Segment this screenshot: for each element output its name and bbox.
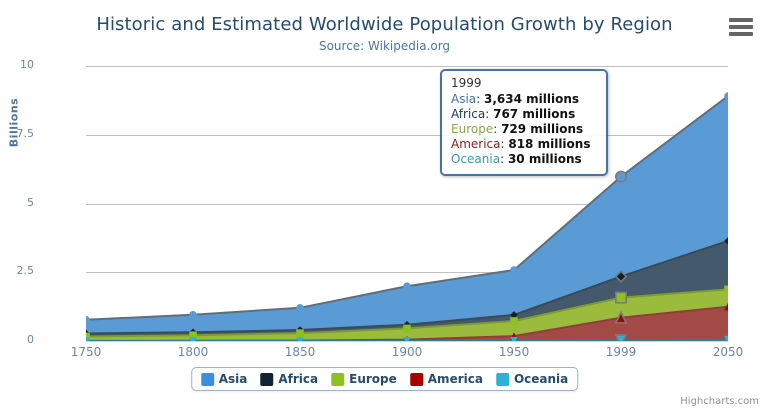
y-axis-tick-label: 5	[0, 196, 34, 209]
legend-item-america[interactable]: America	[410, 372, 483, 386]
x-axis-tick-label: 1750	[71, 345, 102, 359]
tooltip-series-value: 729 millions	[501, 122, 583, 136]
legend-swatch-icon	[496, 373, 509, 386]
x-axis-tick-label: 1950	[499, 345, 530, 359]
y-axis-tick-label: 7.5	[0, 127, 34, 140]
tooltip-series-name: Asia	[451, 92, 476, 106]
plot-area	[86, 66, 728, 341]
data-point-marker[interactable]	[296, 329, 304, 337]
tooltip-row: Africa: 767 millions	[451, 107, 597, 122]
chart-subtitle: Source: Wikipedia.org	[0, 39, 769, 53]
x-axis-line	[86, 341, 728, 342]
legend-label: Asia	[219, 372, 248, 386]
tooltip-series-value: 767 millions	[493, 107, 575, 121]
tooltip-series-name: America	[451, 137, 501, 151]
chart-legend[interactable]: AsiaAfricaEuropeAmericaOceania	[191, 367, 579, 391]
legend-item-africa[interactable]: Africa	[260, 372, 318, 386]
data-point-marker[interactable]	[403, 325, 411, 333]
data-point-marker[interactable]	[403, 282, 411, 290]
x-axis-tick-label: 2050	[713, 345, 744, 359]
tooltip: 1999 Asia: 3,634 millionsAfrica: 767 mil…	[440, 69, 608, 176]
tooltip-row: Asia: 3,634 millions	[451, 92, 597, 107]
tooltip-rows: Asia: 3,634 millionsAfrica: 767 millions…	[451, 92, 597, 167]
x-axis-tick-label: 1900	[392, 345, 423, 359]
chart-title: Historic and Estimated Worldwide Populat…	[0, 14, 769, 35]
x-axis-tick-label: 1999	[606, 345, 637, 359]
x-axis-tick-label: 1850	[285, 345, 316, 359]
hamburger-bar-1	[729, 18, 753, 22]
hamburger-menu-icon[interactable]	[729, 18, 753, 36]
legend-item-oceania[interactable]: Oceania	[496, 372, 568, 386]
y-axis-title: Billions	[8, 53, 21, 193]
credits-link[interactable]: Highcharts.com	[680, 396, 759, 407]
tooltip-row: Oceania: 30 millions	[451, 152, 597, 167]
data-point-marker[interactable]	[724, 286, 728, 294]
legend-item-asia[interactable]: Asia	[201, 372, 248, 386]
tooltip-series-value: 3,634 millions	[484, 92, 579, 106]
tooltip-series-name: Europe	[451, 122, 493, 136]
legend-swatch-icon	[331, 373, 344, 386]
data-point-marker[interactable]	[616, 292, 626, 302]
tooltip-series-value: 818 millions	[508, 137, 590, 151]
y-axis-tick-label: 10	[0, 58, 34, 71]
data-point-marker[interactable]	[616, 171, 626, 181]
legend-item-europe[interactable]: Europe	[331, 372, 397, 386]
legend-swatch-icon	[201, 373, 214, 386]
hamburger-bar-3	[729, 32, 753, 36]
legend-label: Africa	[278, 372, 318, 386]
tooltip-row: Europe: 729 millions	[451, 122, 597, 137]
x-axis-tick-label: 1800	[178, 345, 209, 359]
data-point-marker[interactable]	[510, 266, 518, 274]
tooltip-row: America: 818 millions	[451, 137, 597, 152]
data-point-marker[interactable]	[189, 311, 197, 319]
legend-label: Europe	[349, 372, 397, 386]
highcharts-container: Historic and Estimated Worldwide Populat…	[0, 0, 769, 416]
legend-label: America	[428, 372, 483, 386]
series-svg	[86, 66, 728, 341]
data-point-marker[interactable]	[510, 317, 518, 325]
tooltip-header: 1999	[451, 76, 597, 90]
hamburger-bar-2	[729, 25, 753, 29]
y-axis-tick-label: 0	[0, 333, 34, 346]
y-axis-tick-label: 2.5	[0, 264, 34, 277]
legend-swatch-icon	[410, 373, 423, 386]
tooltip-series-name: Oceania	[451, 152, 500, 166]
tooltip-series-name: Africa	[451, 107, 485, 121]
legend-label: Oceania	[514, 372, 568, 386]
legend-swatch-icon	[260, 373, 273, 386]
tooltip-series-value: 30 millions	[508, 152, 582, 166]
data-point-marker[interactable]	[296, 304, 304, 312]
